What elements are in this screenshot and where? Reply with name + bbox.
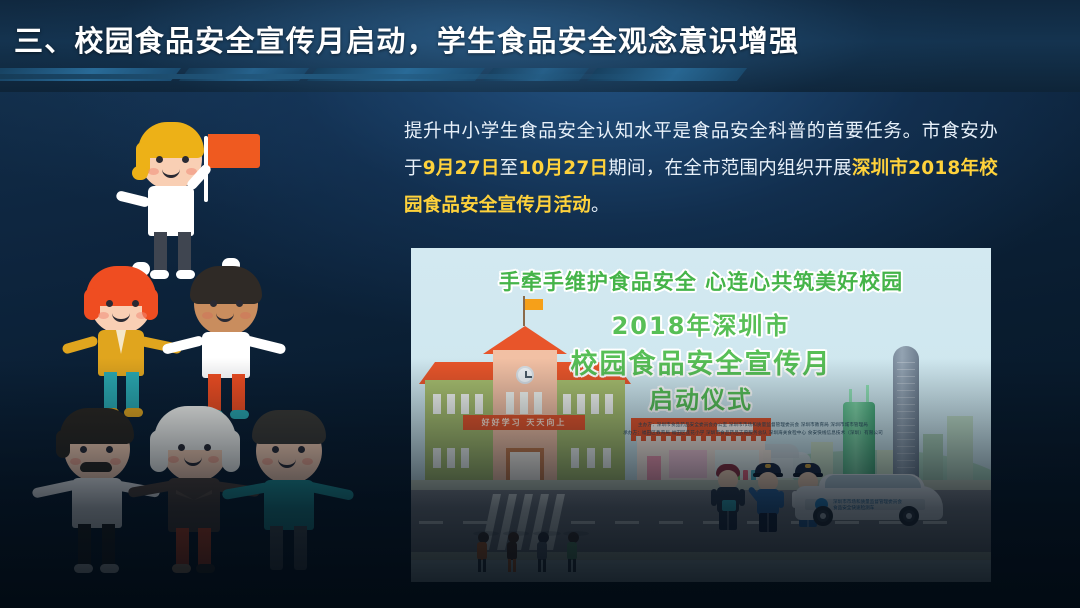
paragraph-segment-2: 至 — [500, 158, 519, 179]
school-window — [587, 448, 595, 468]
poster-credits: 主办方：深圳市食品药品安全委员会办公室 深圳市市场和质量监督管理委员会 深圳市教… — [529, 422, 977, 437]
van-wheel-front — [813, 506, 833, 526]
poster-slogan: 手牵手维护食品安全 心连心共筑美好校园 — [411, 266, 991, 296]
road-lane-dash — [571, 521, 595, 524]
lower-sidewalk — [411, 552, 991, 560]
poster-title-line-3: 启动仪式 — [411, 380, 991, 415]
page-title: 三、校园食品安全宣传月启动，学生食品安全观念意识增强 — [14, 18, 799, 60]
paragraph-segment-3: 期间，在全市范围内组织开展 — [608, 158, 852, 179]
poster-title-line-1: 2018年深圳市 — [411, 306, 991, 341]
person-top-flag-girl — [132, 120, 252, 280]
van-wheel-rear — [899, 506, 919, 526]
poster-credit-organizers: 主办方：深圳市食品药品安全委员会办公室 深圳市市场和质量监督管理委员会 深圳市教… — [529, 422, 977, 430]
shoe — [100, 564, 119, 573]
person-bottom-right — [232, 406, 372, 576]
paragraph-segment-4: 。 — [591, 195, 610, 216]
shoe — [172, 564, 191, 573]
road-lane-dash — [463, 521, 487, 524]
body-paragraph: 提升中小学生食品安全认知水平是食品安全科普的首要任务。市食安办于9月27日至10… — [404, 113, 998, 224]
shop-window-left — [669, 450, 707, 478]
police-officer-saluting — [751, 456, 785, 530]
school-window — [571, 448, 579, 468]
road-lane-dash — [419, 521, 443, 524]
food-safety-inspection-van: 深圳市市场和质量监督管理委员会 食品安全快速检测车 — [795, 474, 943, 526]
school-window — [433, 448, 441, 468]
school-window — [603, 448, 611, 468]
poster-title-line-2: 校园食品安全宣传月 — [411, 342, 991, 381]
road-lane-dash — [659, 521, 683, 524]
header-stripe-baseline — [0, 74, 700, 79]
campaign-poster-image: 好好学习 天天向上 — [411, 248, 991, 582]
inspector-figure — [711, 456, 745, 530]
school-window — [461, 448, 469, 468]
van-side-text: 深圳市市场和质量监督管理委员会 食品安全快速检测车 — [833, 500, 902, 512]
school-window — [447, 448, 455, 468]
highlight-end-date: 10月27日 — [518, 158, 608, 179]
slide-canvas: 三、校园食品安全宣传月启动，学生食品安全观念意识增强 提升中小学生食品安全认知水… — [0, 0, 1080, 608]
highlight-start-date: 9月27日 — [423, 158, 500, 179]
people-pyramid-illustration — [40, 110, 390, 580]
shoe — [196, 564, 215, 573]
road-lane-dash — [615, 521, 639, 524]
poster-credit-coorganizers: 承办方：福田区教育局 福田区莲花小学 深圳市食品药品志愿服务总队 深圳海关食检中… — [529, 430, 977, 438]
van-windows — [825, 475, 921, 488]
shoe — [74, 564, 93, 573]
